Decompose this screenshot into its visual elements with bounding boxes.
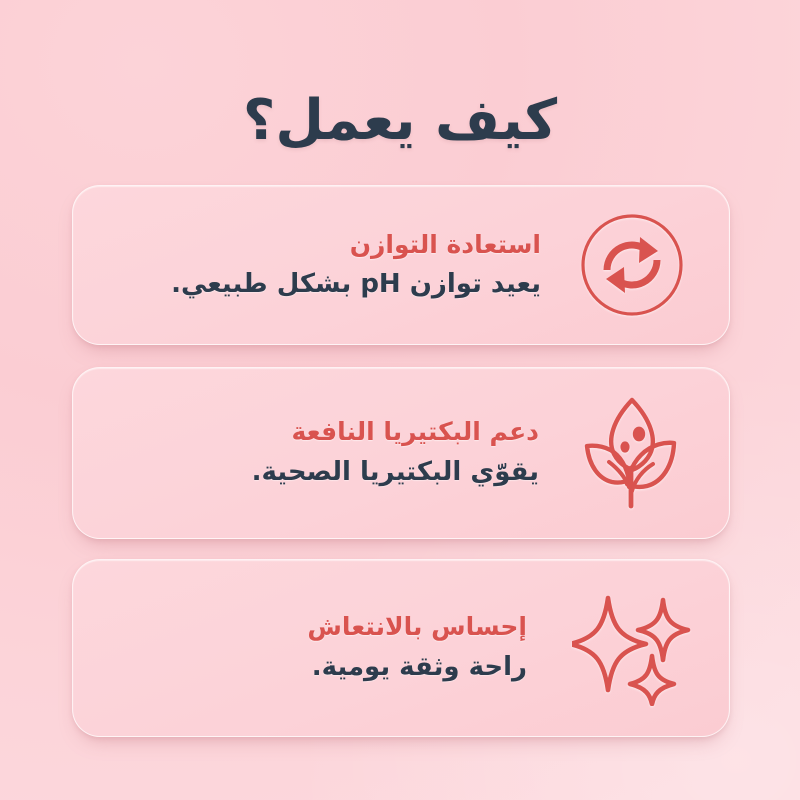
- card-heading: دعم البكتيريا النافعة: [115, 415, 539, 449]
- card-subtitle: راحة وثقة يومية.: [115, 649, 527, 685]
- card-subtitle: يقوّي البكتيريا الصحية.: [115, 454, 539, 490]
- card-subtitle: يعيد توازن pH بشكل طبيعي.: [115, 266, 541, 302]
- sparkles-icon: [572, 590, 692, 706]
- benefit-card-list: استعادة التوازن يعيد توازن pH بشكل طبيعي…: [72, 185, 730, 737]
- card-icon-slot: [569, 590, 695, 706]
- card-heading: إحساس بالانتعاش: [115, 610, 527, 644]
- plant-leaves-icon: [577, 394, 687, 512]
- card-icon-slot: [569, 394, 695, 512]
- card-icon-slot: [569, 212, 695, 318]
- card-text-block: استعادة التوازن يعيد توازن pH بشكل طبيعي…: [107, 228, 569, 302]
- card-text-block: إحساس بالانتعاش راحة وثقة يومية.: [107, 610, 569, 685]
- page-title: كيف يعمل؟: [243, 92, 557, 151]
- card-heading: استعادة التوازن: [115, 228, 541, 262]
- benefit-card-support-bacteria[interactable]: دعم البكتيريا النافعة يقوّي البكتيريا ال…: [72, 367, 730, 539]
- infographic-poster: كيف يعمل؟ استعادة التو: [0, 0, 800, 800]
- refresh-circle-icon: [579, 212, 685, 318]
- benefit-card-restore-balance[interactable]: استعادة التوازن يعيد توازن pH بشكل طبيعي…: [72, 185, 730, 345]
- benefit-card-freshness[interactable]: إحساس بالانتعاش راحة وثقة يومية.: [72, 559, 730, 737]
- card-text-block: دعم البكتيريا النافعة يقوّي البكتيريا ال…: [107, 415, 569, 490]
- page-title-container: كيف يعمل؟: [0, 54, 800, 188]
